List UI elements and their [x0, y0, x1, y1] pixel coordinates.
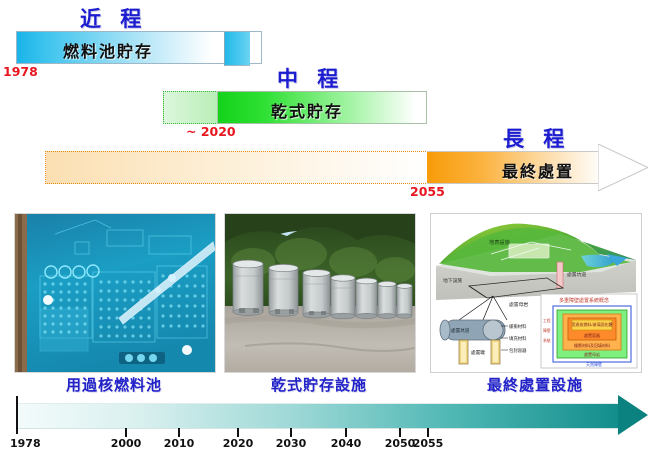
timeline-label-2055: 2055 [413, 437, 444, 450]
photo-caption-dry-cask-storage: 乾式貯存設施 [224, 374, 414, 395]
timeline-arrow-head [618, 395, 648, 435]
phase-arrow-head-long [598, 144, 648, 191]
phase-bar-label-mid: 乾式貯存 [271, 98, 343, 122]
roadmap-canvas: 近 程 燃料池貯存 1978 中 程 乾式貯存 ~ 2020 長 程 最終處置 … [0, 0, 656, 453]
phase-bar-label-short: 燃料池貯存 [63, 38, 153, 62]
svg-text:處置容器: 處置容器 [584, 332, 600, 338]
photo-caption-final-disposal: 最終處置設施 [430, 374, 640, 395]
svg-text:天然障壁: 天然障壁 [586, 361, 602, 367]
svg-text:填充材料: 填充材料 [509, 335, 527, 342]
timeline-label-2040: 2040 [331, 437, 362, 450]
svg-text:處置母岩: 處置母岩 [584, 351, 600, 357]
phase-heading-mid: 中 程 [277, 63, 344, 93]
svg-text:用過核燃料/玻璃固化體: 用過核燃料/玻璃固化體 [571, 321, 612, 327]
timeline-tick-2000 [125, 428, 127, 437]
svg-text:包封容器: 包封容器 [509, 347, 527, 354]
svg-text:處置坑道: 處置坑道 [567, 271, 586, 278]
timeline-label-2020: 2020 [223, 437, 254, 450]
phase-heading-short: 近 程 [80, 3, 147, 33]
year-marker-1978: 1978 [3, 64, 38, 79]
phase-bar-short-cap [224, 31, 250, 66]
timeline-label-2030: 2030 [276, 437, 307, 450]
timeline-tick-2030 [290, 428, 292, 437]
timeline-tick-2020 [237, 428, 239, 437]
timeline-tick-2040 [345, 428, 347, 437]
timeline-tick-2010 [178, 428, 180, 437]
svg-text:處置坑道: 處置坑道 [451, 327, 470, 334]
svg-text:緩衝材料及回填材料: 緩衝材料及回填材料 [574, 342, 610, 348]
timeline-tick-2055 [427, 428, 429, 437]
svg-text:工程: 工程 [543, 318, 551, 323]
svg-text:多重障壁處置系統概念: 多重障壁處置系統概念 [559, 297, 609, 304]
phase-bar-long-pending [45, 151, 428, 184]
svg-text:地下設施: 地下設施 [443, 277, 462, 284]
phase-heading-long: 長 程 [503, 123, 570, 153]
svg-text:緩衝材料: 緩衝材料 [509, 323, 527, 330]
timeline-label-2000: 2000 [111, 437, 142, 450]
timeline-label-2010: 2010 [164, 437, 195, 450]
svg-text:系統: 系統 [543, 338, 551, 343]
timeline-label-2050: 2050 [385, 437, 416, 450]
timeline-label-1978: 1978 [10, 437, 41, 450]
timeline-arrow-bar [18, 403, 622, 429]
phase-bar-label-long: 最終處置 [502, 158, 574, 182]
svg-text:處置罐: 處置罐 [471, 349, 485, 356]
svg-text:地表設施: 地表設施 [489, 238, 510, 246]
photo-spent-fuel-pool [14, 213, 216, 373]
year-marker-2020: ~ 2020 [186, 124, 236, 139]
svg-text:處置母岩: 處置母岩 [509, 301, 528, 308]
diagram-final-disposal-facility: 地表設施 處置坑道 地下設施 處置母岩 處置坑道 [430, 213, 642, 373]
year-marker-2055: 2055 [410, 184, 445, 199]
svg-text:障壁: 障壁 [543, 328, 551, 333]
photo-dry-cask-storage [224, 213, 416, 373]
timeline-tick-2050 [399, 428, 401, 437]
photo-caption-spent-fuel-pool: 用過核燃料池 [14, 374, 214, 395]
phase-bar-mid-pending [163, 91, 218, 124]
